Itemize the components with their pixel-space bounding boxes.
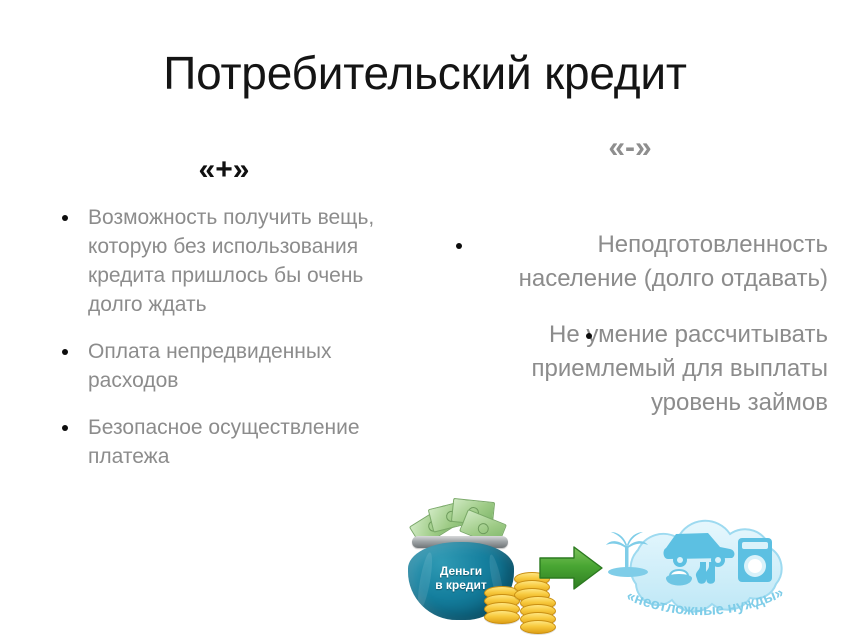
bullet-list-positives: Возможность получить вещь, которую без и… xyxy=(46,203,418,489)
list-item: Оплата непредвиденных расходов xyxy=(46,337,418,395)
coin-icon xyxy=(520,620,556,634)
bullet-dot-icon xyxy=(62,425,68,431)
list-item-text: Безопасное осуществление платежа xyxy=(88,416,360,468)
heading-minus: «-» xyxy=(424,130,836,166)
slide-canvas: Потребительский кредит «+» Возможность п… xyxy=(0,0,850,637)
cloud-shape-icon: «неотложные нужды» xyxy=(596,514,814,632)
list-item-text: Не умение рассчитывать приемлемый для вы… xyxy=(531,321,828,416)
list-item-text: Неподготовленность население (долго отда… xyxy=(519,231,828,292)
heading-plus: «+» xyxy=(24,152,424,188)
list-item: Безопасное осуществление платежа xyxy=(46,413,418,471)
coin-icon xyxy=(484,610,520,624)
bullet-dot-icon xyxy=(62,215,68,221)
bullet-dot-icon xyxy=(456,243,462,249)
list-item-text: Возможность получить вещь, которую без и… xyxy=(88,206,374,316)
list-item: Не умение рассчитывать приемлемый для вы… xyxy=(434,318,832,420)
bullet-dot-icon xyxy=(62,349,68,355)
list-item-text: Оплата непредвиденных расходов xyxy=(88,340,331,392)
bullet-dot-icon xyxy=(586,333,592,339)
arrow-right-icon xyxy=(538,545,604,591)
list-item: Неподготовленность население (долго отда… xyxy=(434,228,832,296)
washing-machine-icon xyxy=(738,538,772,582)
list-item: Возможность получить вещь, которую без и… xyxy=(46,203,418,319)
bullet-list-negatives: Неподготовленность население (долго отда… xyxy=(434,228,832,442)
purse-label-line1: Деньги xyxy=(408,564,514,578)
page-title: Потребительский кредит xyxy=(0,46,850,100)
green-arrow-illustration xyxy=(538,545,604,591)
cloud-illustration: «неотложные нужды» xyxy=(596,514,814,632)
